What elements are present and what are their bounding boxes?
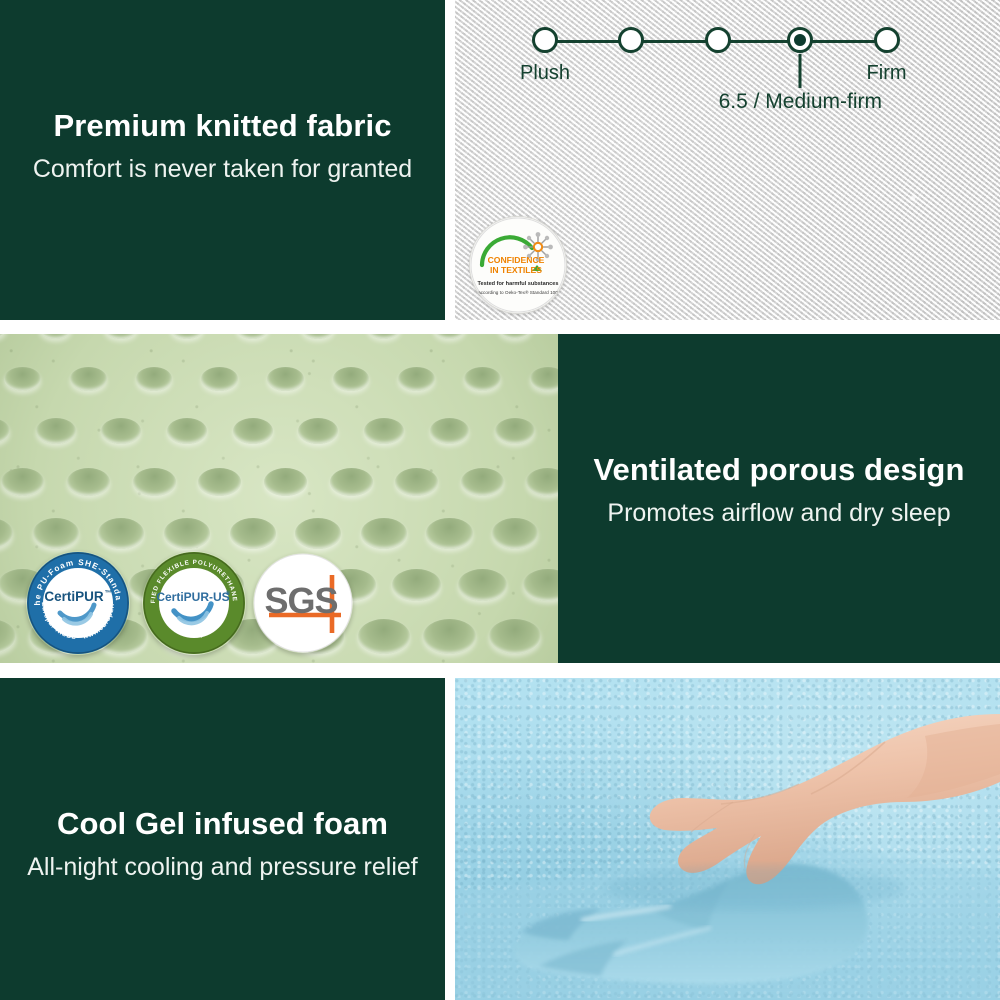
- foam-hole: [0, 619, 16, 654]
- foam-hole: [101, 418, 141, 444]
- panel-knitted-fabric-image: Plush Firm 6.5 / Medium-firm: [455, 0, 1000, 320]
- badge-certipur-eu: The PU-Foam SHE-Standard by Europur RISB…: [26, 551, 130, 655]
- sgs-center-text: SGS: [264, 580, 337, 621]
- firmness-node-2[interactable]: [618, 27, 644, 53]
- foam-hole: [136, 367, 173, 391]
- foam-hole: [133, 468, 176, 496]
- hand-and-impression-illustration: [455, 678, 1000, 1000]
- foam-hole: [433, 334, 467, 339]
- row3-subhead: All-night cooling and pressure relief: [18, 852, 427, 882]
- row3-copy-block: Cool Gel infused foam All-night cooling …: [0, 806, 445, 882]
- oeko-line-3: Tested for harmful substances: [477, 281, 558, 287]
- oeko-line-2: IN TEXTILES: [490, 265, 542, 275]
- firmness-node-1[interactable]: [532, 27, 558, 53]
- foam-hole: [361, 518, 407, 548]
- firmness-leader-line: [799, 54, 802, 88]
- foam-hole: [298, 418, 338, 444]
- foam-hole: [430, 418, 470, 444]
- foam-hole: [523, 569, 558, 602]
- foam-hole: [39, 334, 73, 339]
- panel-premium-knitted-fabric-text: Premium knitted fabric Comfort is never …: [0, 0, 445, 320]
- firmness-node-3[interactable]: [705, 27, 731, 53]
- firmness-label-plush: Plush: [520, 62, 570, 85]
- foam-hole: [464, 367, 501, 391]
- certipur-eu-trademark: ™: [105, 590, 112, 597]
- foam-hole: [426, 518, 472, 548]
- foam-hole: [67, 468, 110, 496]
- foam-hole: [495, 418, 535, 444]
- badge-sgs: SGS: [253, 553, 353, 653]
- row2-copy-block: Ventilated porous design Promotes airflo…: [558, 452, 1000, 528]
- foam-hole: [36, 418, 76, 444]
- panel-cool-gel-text: Cool Gel infused foam All-night cooling …: [0, 678, 445, 1000]
- row1-copy-block: Premium knitted fabric Comfort is never …: [0, 108, 445, 184]
- certipur-eu-center-text: CertiPUR: [44, 589, 104, 604]
- row2-headline: Ventilated porous design: [576, 452, 982, 488]
- row1-headline: Premium knitted fabric: [18, 108, 427, 144]
- foam-hole: [201, 367, 238, 391]
- foam-hole: [395, 468, 438, 496]
- foam-hole: [104, 334, 138, 339]
- foam-hole: [230, 518, 276, 548]
- foam-hole: [164, 518, 210, 548]
- firmness-node-5[interactable]: [874, 27, 900, 53]
- foam-hole: [398, 367, 435, 391]
- row3-headline: Cool Gel infused foam: [18, 806, 427, 842]
- badge-certipur-us: CERTIFIED FLEXIBLE POLYURETHANE FOAM www…: [142, 551, 246, 655]
- foam-hole: [198, 468, 241, 496]
- foam-hole: [458, 569, 507, 602]
- sgs-icon: SGS: [253, 553, 353, 653]
- certipur-eu-icon: The PU-Foam SHE-Standard by Europur RISB…: [26, 551, 130, 655]
- foam-hole: [530, 367, 558, 391]
- foam-hole: [1, 468, 44, 496]
- row1-subhead: Comfort is never taken for granted: [18, 154, 427, 184]
- firmness-node-4-selected[interactable]: [787, 27, 813, 53]
- foam-hole: [423, 619, 475, 654]
- foam-hole: [233, 418, 273, 444]
- foam-hole: [364, 418, 404, 444]
- panel-gel-foam-image: [455, 678, 1000, 1000]
- foam-hole: [333, 367, 370, 391]
- row2-subhead: Promotes airflow and dry sleep: [576, 498, 982, 528]
- foam-hole: [70, 367, 107, 391]
- certipur-us-trademark: ®: [226, 590, 231, 597]
- foam-hole: [330, 468, 373, 496]
- panel-ventilated-design-text: Ventilated porous design Promotes airflo…: [558, 334, 1000, 663]
- foam-hole: [295, 518, 341, 548]
- infographic-board: Premium knitted fabric Comfort is never …: [0, 0, 1000, 1000]
- foam-hole: [167, 418, 207, 444]
- foam-hole: [0, 518, 13, 548]
- oeko-line-1: CONFIDENCE: [488, 255, 545, 265]
- foam-hole: [498, 334, 532, 339]
- foam-hole: [4, 367, 41, 391]
- foam-hole: [236, 334, 270, 339]
- foam-hole: [301, 334, 335, 339]
- oeko-line-4: according to Oeko-Tex® Standard 100: [478, 289, 558, 295]
- firmness-value-label: 6.5 / Medium-firm: [719, 90, 882, 114]
- foam-hole: [267, 367, 304, 391]
- foam-hole: [489, 619, 541, 654]
- foam-hole: [367, 334, 401, 339]
- foam-hole: [492, 518, 538, 548]
- oeko-tex-badge: CONFIDENCE IN TEXTILES Tested for harmfu…: [469, 216, 567, 314]
- foam-hole: [526, 468, 558, 496]
- foam-hole: [461, 468, 504, 496]
- foam-hole: [358, 619, 410, 654]
- firmness-label-firm: Firm: [867, 62, 907, 85]
- foam-hole: [98, 518, 144, 548]
- foam-hole: [264, 468, 307, 496]
- certipur-us-center-text: CertiPUR-US: [156, 590, 229, 604]
- foam-hole: [0, 418, 10, 444]
- foam-hole: [33, 518, 79, 548]
- foam-hole: [392, 569, 441, 602]
- foam-hole: [0, 334, 7, 339]
- certipur-us-icon: CERTIFIED FLEXIBLE POLYURETHANE FOAM www…: [142, 551, 246, 655]
- oeko-tex-badge-icon: CONFIDENCE IN TEXTILES Tested for harmfu…: [470, 217, 566, 313]
- foam-hole: [170, 334, 204, 339]
